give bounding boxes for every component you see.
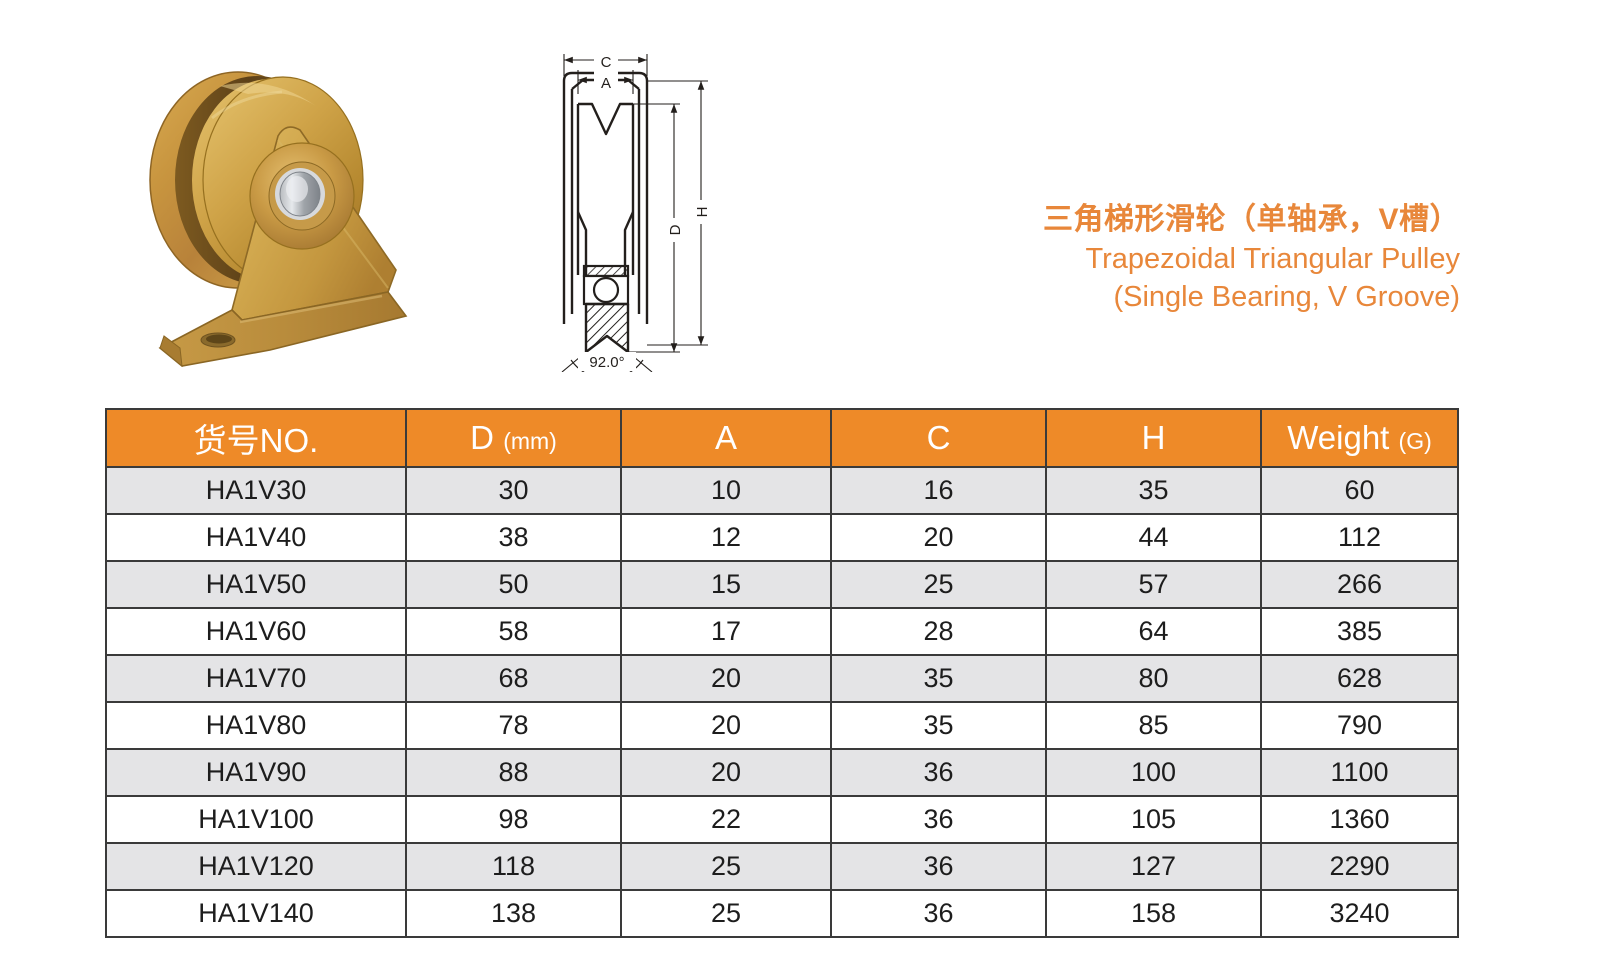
cell-weight: 628 xyxy=(1261,655,1458,702)
cell-h: 80 xyxy=(1046,655,1261,702)
cell-weight: 112 xyxy=(1261,514,1458,561)
cell-weight: 3240 xyxy=(1261,890,1458,937)
cell-a: 10 xyxy=(621,467,831,514)
column-header-d: D (mm) xyxy=(406,409,621,467)
table-row: HA1V7068203580628 xyxy=(106,655,1458,702)
cell-d: 98 xyxy=(406,796,621,843)
cell-h: 158 xyxy=(1046,890,1261,937)
cell-a: 12 xyxy=(621,514,831,561)
cell-h: 57 xyxy=(1046,561,1261,608)
cell-h: 35 xyxy=(1046,467,1261,514)
cell-d: 50 xyxy=(406,561,621,608)
cell-c: 20 xyxy=(831,514,1046,561)
table-header-row: 货号NO. D (mm) A C H Weight (G) xyxy=(106,409,1458,467)
dim-label-a: A xyxy=(601,75,611,92)
cell-c: 25 xyxy=(831,561,1046,608)
dim-label-d: D xyxy=(667,224,684,235)
cell-h: 44 xyxy=(1046,514,1261,561)
cell-d: 68 xyxy=(406,655,621,702)
table-row: HA1V4038122044112 xyxy=(106,514,1458,561)
table-row: HA1V12011825361272290 xyxy=(106,843,1458,890)
cell-d: 118 xyxy=(406,843,621,890)
product-title-en-line1: Trapezoidal Triangular Pulley xyxy=(820,240,1460,278)
cell-h: 64 xyxy=(1046,608,1261,655)
cell-d: 38 xyxy=(406,514,621,561)
table-row: HA1V303010163560 xyxy=(106,467,1458,514)
technical-drawing: C A D H 92.0° xyxy=(540,42,730,372)
table-row: HA1V14013825361583240 xyxy=(106,890,1458,937)
cell-a: 15 xyxy=(621,561,831,608)
cell-no: HA1V80 xyxy=(106,702,406,749)
cell-c: 36 xyxy=(831,749,1046,796)
product-header-area: C A D H 92.0° 三角梯形滑轮（单轴承，V槽） Trapezoidal… xyxy=(0,0,1600,390)
dim-label-angle: 92.0° xyxy=(589,354,624,371)
product-title-en-line2: (Single Bearing, V Groove) xyxy=(820,278,1460,316)
cell-c: 36 xyxy=(831,843,1046,890)
product-title-block: 三角梯形滑轮（单轴承，V槽） Trapezoidal Triangular Pu… xyxy=(820,200,1460,316)
cell-a: 25 xyxy=(621,843,831,890)
cell-weight: 385 xyxy=(1261,608,1458,655)
cell-weight: 2290 xyxy=(1261,843,1458,890)
cell-no: HA1V90 xyxy=(106,749,406,796)
column-header-no: 货号NO. xyxy=(106,409,406,467)
specification-table: 货号NO. D (mm) A C H Weight (G) HA1V303010… xyxy=(105,408,1459,938)
cell-weight: 60 xyxy=(1261,467,1458,514)
table-row: HA1V908820361001100 xyxy=(106,749,1458,796)
cell-weight: 1100 xyxy=(1261,749,1458,796)
cell-h: 100 xyxy=(1046,749,1261,796)
column-header-h: H xyxy=(1046,409,1261,467)
dim-label-c: C xyxy=(601,54,612,71)
cell-no: HA1V70 xyxy=(106,655,406,702)
cell-a: 20 xyxy=(621,749,831,796)
cell-h: 105 xyxy=(1046,796,1261,843)
cell-a: 25 xyxy=(621,890,831,937)
cell-d: 88 xyxy=(406,749,621,796)
specification-table-wrapper: 货号NO. D (mm) A C H Weight (G) HA1V303010… xyxy=(105,408,1457,938)
cell-c: 35 xyxy=(831,655,1046,702)
cell-h: 127 xyxy=(1046,843,1261,890)
cell-weight: 1360 xyxy=(1261,796,1458,843)
cell-no: HA1V30 xyxy=(106,467,406,514)
product-photo xyxy=(120,48,420,368)
column-header-c: C xyxy=(831,409,1046,467)
cell-weight: 266 xyxy=(1261,561,1458,608)
column-header-weight: Weight (G) xyxy=(1261,409,1458,467)
table-row: HA1V1009822361051360 xyxy=(106,796,1458,843)
cell-d: 30 xyxy=(406,467,621,514)
table-row: HA1V8078203585790 xyxy=(106,702,1458,749)
cell-no: HA1V100 xyxy=(106,796,406,843)
cell-no: HA1V50 xyxy=(106,561,406,608)
dim-label-h: H xyxy=(694,207,711,218)
cell-weight: 790 xyxy=(1261,702,1458,749)
cell-no: HA1V140 xyxy=(106,890,406,937)
cell-c: 16 xyxy=(831,467,1046,514)
cell-no: HA1V120 xyxy=(106,843,406,890)
cell-a: 17 xyxy=(621,608,831,655)
cell-no: HA1V40 xyxy=(106,514,406,561)
cell-a: 22 xyxy=(621,796,831,843)
table-row: HA1V6058172864385 xyxy=(106,608,1458,655)
cell-no: HA1V60 xyxy=(106,608,406,655)
cell-d: 58 xyxy=(406,608,621,655)
cell-c: 36 xyxy=(831,890,1046,937)
cell-h: 85 xyxy=(1046,702,1261,749)
column-header-a: A xyxy=(621,409,831,467)
cell-a: 20 xyxy=(621,702,831,749)
cell-d: 138 xyxy=(406,890,621,937)
cell-d: 78 xyxy=(406,702,621,749)
product-title-cn: 三角梯形滑轮（单轴承，V槽） xyxy=(820,200,1460,240)
cell-c: 28 xyxy=(831,608,1046,655)
cell-c: 35 xyxy=(831,702,1046,749)
cell-a: 20 xyxy=(621,655,831,702)
cell-c: 36 xyxy=(831,796,1046,843)
table-row: HA1V5050152557266 xyxy=(106,561,1458,608)
